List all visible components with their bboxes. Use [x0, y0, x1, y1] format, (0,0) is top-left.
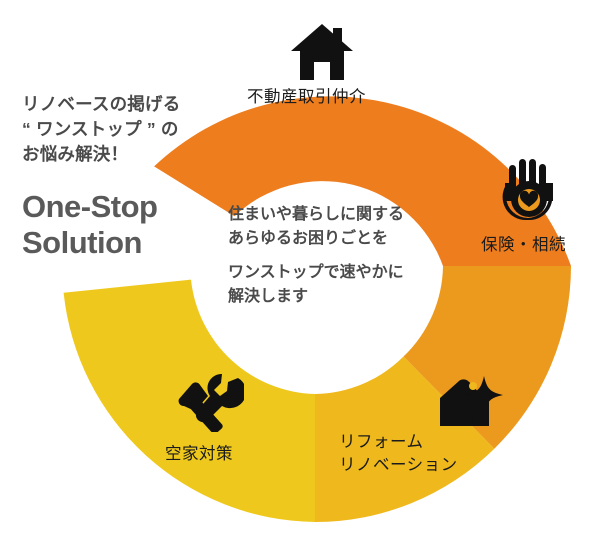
sparkle-house-icon — [437, 374, 503, 430]
main-title-line1: One-Stop — [22, 189, 222, 225]
center-para2-line1: ワンストップで速やかに — [228, 261, 453, 285]
one-stop-solution-infographic: 不動産取引仲介 保険・相続 リフォーム リノベーション 空家対策 リノベースの掲… — [0, 0, 600, 533]
segment-label-realestate: 不動産取引仲介 — [247, 86, 366, 109]
segment-label-reform-line2: リノベーション — [339, 454, 458, 477]
lead-line-2: “ ワンストップ ” の — [22, 117, 222, 142]
center-copy: 住まいや暮らしに関する あらゆるお困りごとを ワンストップで速やかに 解決します — [228, 203, 453, 309]
house-icon — [291, 24, 353, 80]
hammer-wrench-icon — [176, 372, 244, 432]
center-para2-line2: 解決します — [228, 285, 453, 309]
lead-line-3: お悩み解決！ — [22, 142, 222, 167]
segment-label-reform-line1: リフォーム — [339, 431, 458, 454]
hand-heart-icon — [501, 159, 557, 221]
lead-line-1: リノベースの掲げる — [22, 92, 222, 117]
segment-label-vacant: 空家対策 — [165, 443, 233, 466]
segment-label-insurance: 保険・相続 — [481, 234, 566, 257]
center-copy-spacer — [228, 251, 453, 261]
headline-block: リノベースの掲げる “ ワンストップ ” の お悩み解決！ One-Stop S… — [22, 92, 222, 261]
segment-label-reform: リフォーム リノベーション — [339, 431, 458, 477]
main-title: One-Stop Solution — [22, 189, 222, 261]
center-para1-line2: あらゆるお困りごとを — [228, 227, 453, 251]
center-para1-line1: 住まいや暮らしに関する — [228, 203, 453, 227]
main-title-line2: Solution — [22, 225, 222, 261]
